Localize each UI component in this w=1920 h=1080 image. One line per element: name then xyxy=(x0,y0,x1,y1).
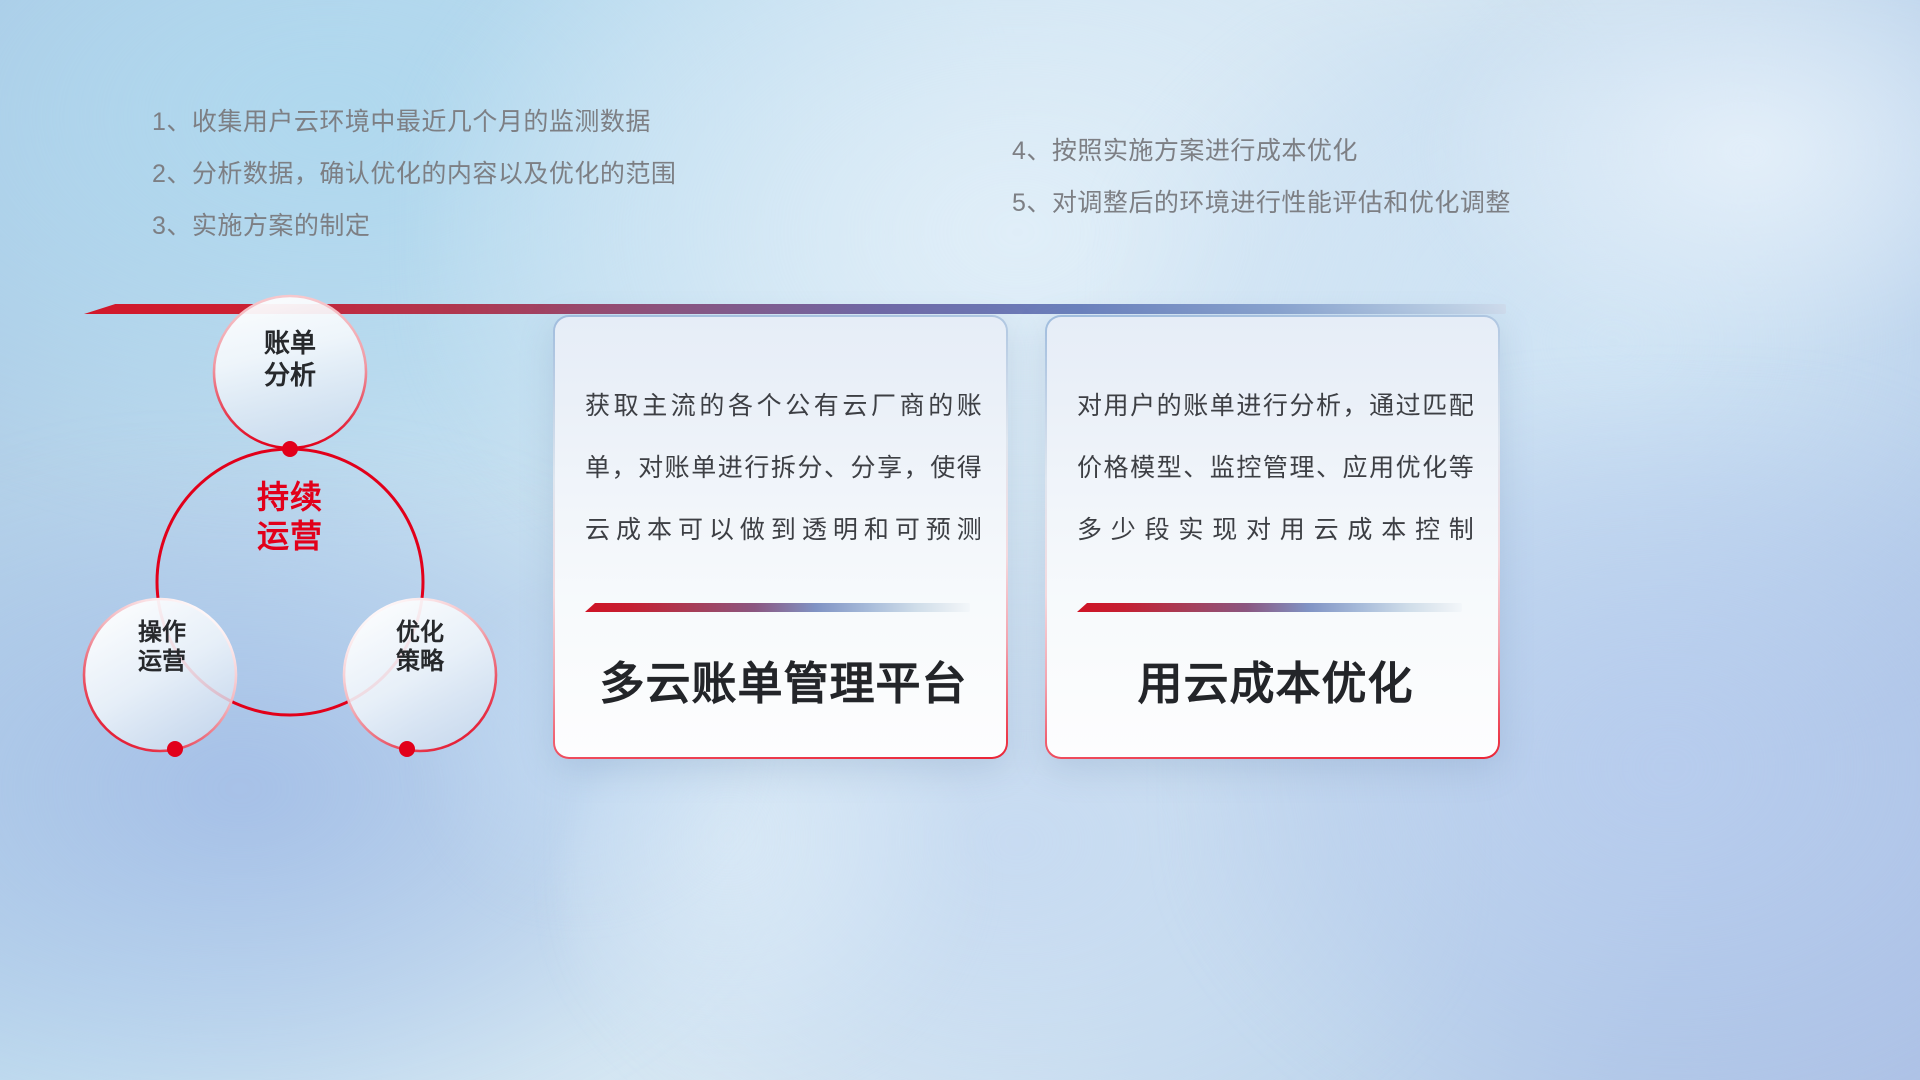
step-item-2: 2、分析数据，确认优化的内容以及优化的范围 xyxy=(152,148,676,200)
card-body-text: 获取主流的各个公有云厂商的账单，对账单进行拆分、分享，使得云成本可以做到透明和可… xyxy=(585,375,982,561)
card-title: 用云成本优化 xyxy=(1077,647,1474,712)
card-inner: 对用户的账单进行分析，通过匹配价格模型、监控管理、应用优化等多少段实现对用云成本… xyxy=(1047,317,1498,757)
venn-diagram: 账单 分析 持续 运营 操作 运营 优化 策略 xyxy=(80,290,540,780)
venn-node-right xyxy=(399,741,415,757)
steps-left-column: 1、收集用户云环境中最近几个月的监测数据 2、分析数据，确认优化的内容以及优化的… xyxy=(152,96,676,252)
venn-label-right: 优化 策略 xyxy=(360,618,480,677)
venn-node-left xyxy=(167,741,183,757)
step-item-1: 1、收集用户云环境中最近几个月的监测数据 xyxy=(152,96,676,148)
venn-label-center: 持续 运营 xyxy=(220,478,360,556)
card-divider xyxy=(585,603,970,612)
venn-node-top xyxy=(282,441,298,457)
info-card-cost-optimization[interactable]: 对用户的账单进行分析，通过匹配价格模型、监控管理、应用优化等多少段实现对用云成本… xyxy=(1045,315,1500,759)
venn-label-top: 账单 分析 xyxy=(230,328,350,391)
step-item-4: 4、按照实施方案进行成本优化 xyxy=(1012,125,1511,177)
step-item-5: 5、对调整后的环境进行性能评估和优化调整 xyxy=(1012,177,1511,229)
step-item-3: 3、实施方案的制定 xyxy=(152,200,676,252)
card-divider xyxy=(1077,603,1462,612)
venn-label-left: 操作 运营 xyxy=(102,618,222,677)
card-body-text: 对用户的账单进行分析，通过匹配价格模型、监控管理、应用优化等多少段实现对用云成本… xyxy=(1077,375,1474,561)
card-title: 多云账单管理平台 xyxy=(585,647,982,712)
card-inner: 获取主流的各个公有云厂商的账单，对账单进行拆分、分享，使得云成本可以做到透明和可… xyxy=(555,317,1006,757)
info-card-billing-platform[interactable]: 获取主流的各个公有云厂商的账单，对账单进行拆分、分享，使得云成本可以做到透明和可… xyxy=(553,315,1008,759)
steps-section: 1、收集用户云环境中最近几个月的监测数据 2、分析数据，确认优化的内容以及优化的… xyxy=(0,0,1920,300)
steps-right-column: 4、按照实施方案进行成本优化 5、对调整后的环境进行性能评估和优化调整 xyxy=(1012,125,1511,229)
